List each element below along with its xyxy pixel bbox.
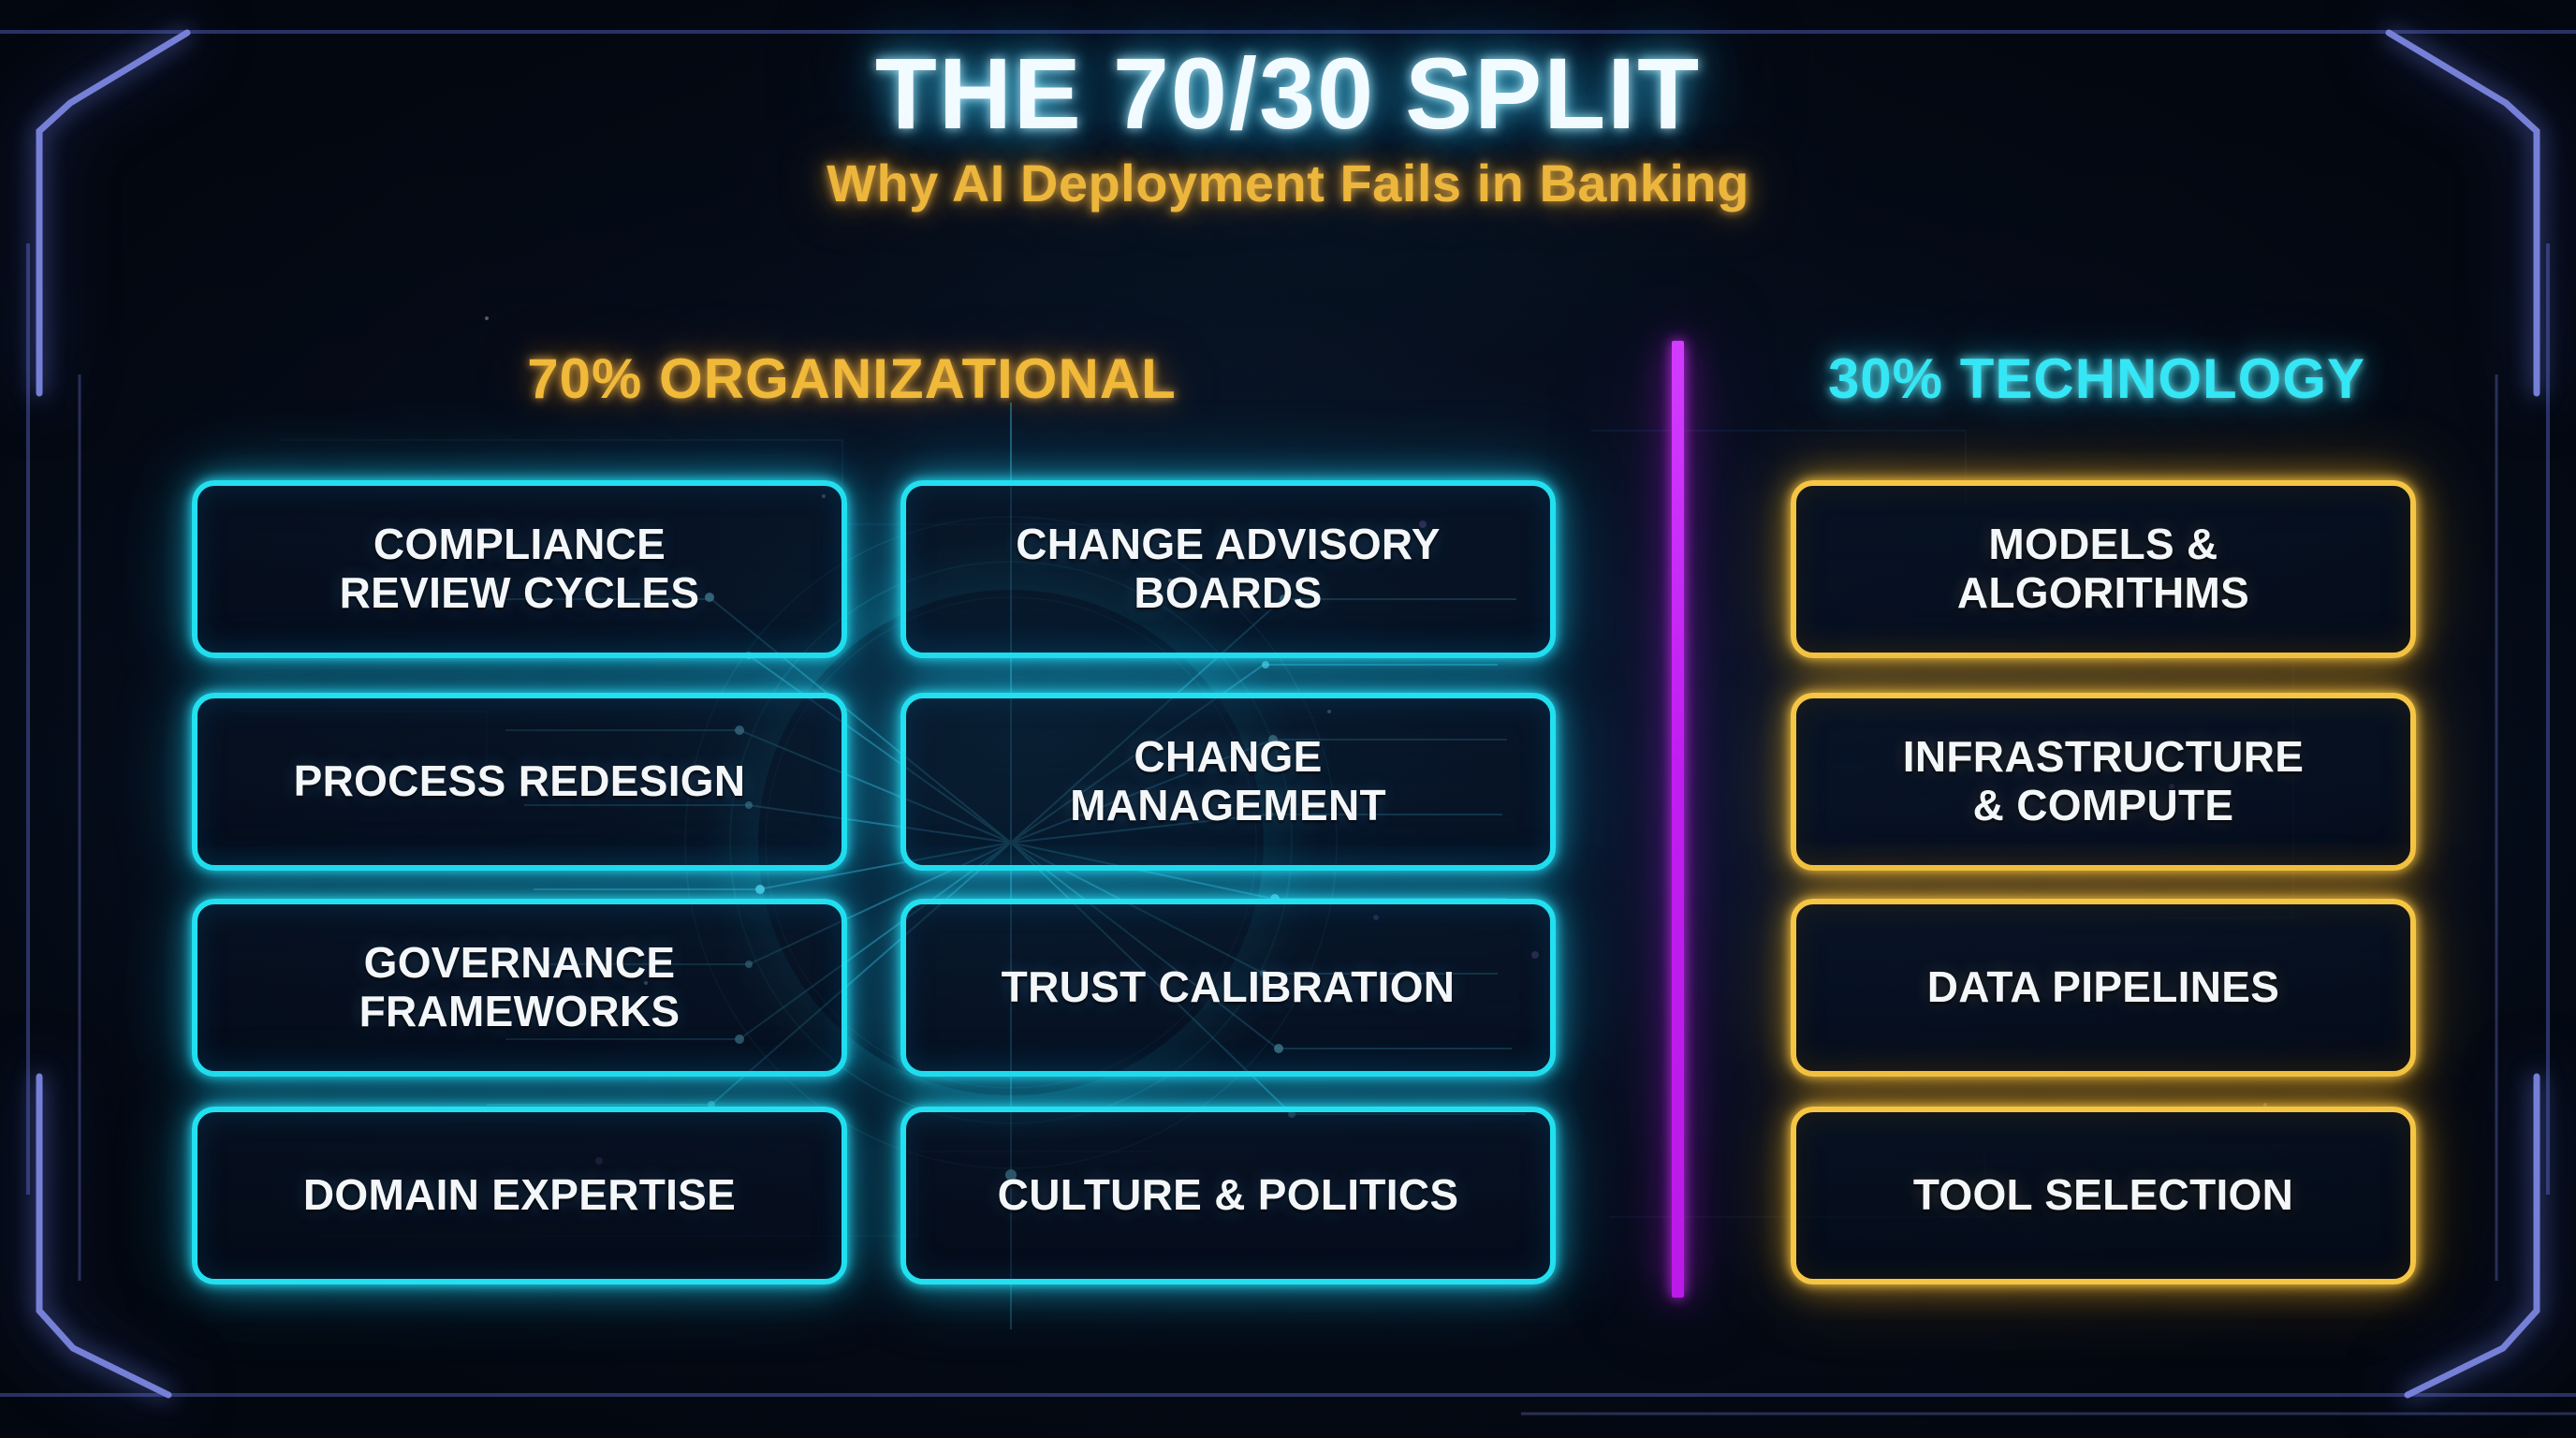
tech-card-infrastructure-and-compute[interactable]: INFRASTRUCTURE& COMPUTE <box>1791 693 2416 871</box>
page-subtitle: Why AI Deployment Fails in Banking <box>0 153 2576 213</box>
infographic-canvas: THE 70/30 SPLIT Why AI Deployment Fails … <box>0 0 2576 1438</box>
tech-card-models-and-algorithms[interactable]: MODELS &ALGORITHMS <box>1791 480 2416 658</box>
org-card-domain-expertise[interactable]: DOMAIN EXPERTISE <box>192 1107 847 1284</box>
card-label: TOOL SELECTION <box>1893 1171 2314 1220</box>
tech-card-data-pipelines[interactable]: DATA PIPELINES <box>1791 899 2416 1077</box>
org-card-culture-and-politics[interactable]: CULTURE & POLITICS <box>900 1107 1556 1284</box>
column-divider <box>1672 341 1684 1298</box>
card-label: PROCESS REDESIGN <box>273 757 767 806</box>
organizational-column-heading: 70% ORGANIZATIONAL <box>187 346 1516 411</box>
page-title: THE 70/30 SPLIT <box>0 39 2576 149</box>
card-label: CHANGE ADVISORYBOARDS <box>995 521 1460 617</box>
card-label: CHANGEMANAGEMENT <box>1049 733 1407 829</box>
org-card-change-management[interactable]: CHANGEMANAGEMENT <box>900 693 1556 871</box>
card-label: DOMAIN EXPERTISE <box>283 1171 756 1220</box>
card-label: TRUST CALIBRATION <box>981 963 1476 1012</box>
header-block: THE 70/30 SPLIT Why AI Deployment Fails … <box>0 39 2576 213</box>
org-card-trust-calibration[interactable]: TRUST CALIBRATION <box>900 899 1556 1077</box>
org-card-process-redesign[interactable]: PROCESS REDESIGN <box>192 693 847 871</box>
technology-column-heading: 30% TECHNOLOGY <box>1741 346 2452 411</box>
card-label: GOVERNANCEFRAMEWORKS <box>339 939 701 1035</box>
org-card-change-advisory-boards[interactable]: CHANGE ADVISORYBOARDS <box>900 480 1556 658</box>
card-label: CULTURE & POLITICS <box>977 1171 1480 1220</box>
card-label: COMPLIANCEREVIEW CYCLES <box>319 521 721 617</box>
card-label: MODELS &ALGORITHMS <box>1937 521 2270 617</box>
card-label: INFRASTRUCTURE& COMPUTE <box>1882 733 2324 829</box>
tech-card-tool-selection[interactable]: TOOL SELECTION <box>1791 1107 2416 1284</box>
org-card-compliance-review-cycles[interactable]: COMPLIANCEREVIEW CYCLES <box>192 480 847 658</box>
org-card-governance-frameworks[interactable]: GOVERNANCEFRAMEWORKS <box>192 899 847 1077</box>
card-label: DATA PIPELINES <box>1907 963 2301 1012</box>
